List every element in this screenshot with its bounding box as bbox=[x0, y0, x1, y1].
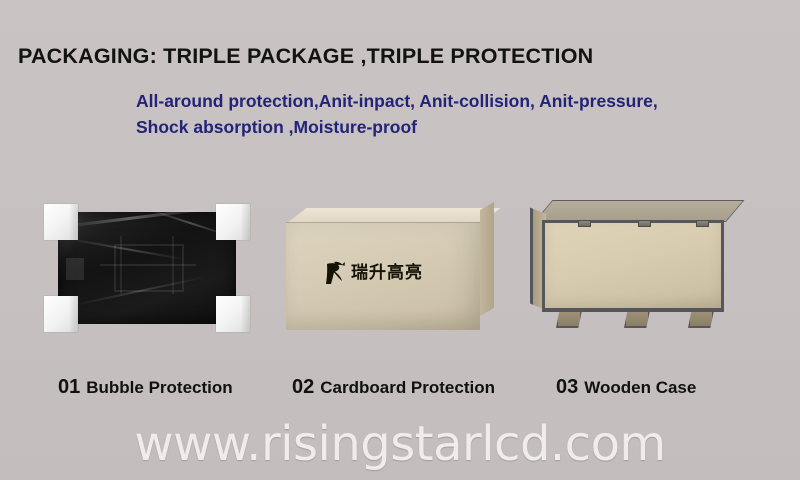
crate-metal-clip bbox=[638, 220, 651, 227]
cardboard-carton-image: 瑞升高亮 bbox=[286, 208, 496, 330]
crate-top-face bbox=[534, 200, 744, 222]
brand-logo: 瑞升高亮 bbox=[322, 260, 423, 286]
crate-metal-clip bbox=[696, 220, 709, 227]
bracket-vertical-bar-right bbox=[172, 236, 174, 294]
foam-corner-top-left bbox=[44, 204, 78, 240]
photo-wooden-case bbox=[528, 196, 734, 341]
carton-top-seam bbox=[286, 222, 480, 223]
rising-star-r-logo-icon bbox=[322, 260, 346, 286]
caption-number: 03 bbox=[556, 376, 578, 399]
wooden-crate-image bbox=[528, 200, 734, 338]
caption-bubble-protection: 01 Bubble Protection bbox=[58, 376, 233, 399]
caption-cardboard-protection: 02 Cardboard Protection bbox=[292, 376, 495, 399]
product-caption-row: 01 Bubble Protection 02 Cardboard Protec… bbox=[0, 376, 800, 402]
photo-cardboard-protection: 瑞升高亮 bbox=[282, 196, 504, 341]
brand-logo-text: 瑞升高亮 bbox=[351, 265, 423, 282]
caption-label: Cardboard Protection bbox=[320, 378, 495, 398]
photo-bubble-protection bbox=[36, 196, 258, 341]
product-photo-strip: 瑞升高亮 bbox=[0, 196, 800, 341]
caption-number: 01 bbox=[58, 376, 80, 399]
bracket-horizontal-bar bbox=[100, 264, 196, 266]
protection-features-list: All-around protection,Anit-inpact, Anit-… bbox=[136, 88, 736, 140]
protection-features-line-2: Shock absorption ,Moisture-proof bbox=[136, 114, 736, 140]
caption-wooden-case: 03 Wooden Case bbox=[556, 376, 696, 399]
crate-pallet-foot bbox=[624, 310, 650, 328]
caption-label: Bubble Protection bbox=[86, 378, 232, 398]
foam-corner-bottom-left bbox=[44, 296, 78, 332]
crate-pallet-foot bbox=[556, 310, 582, 328]
plastic-wrapped-tv-image bbox=[36, 202, 258, 334]
crate-metal-clip bbox=[578, 220, 591, 227]
foam-corner-top-right bbox=[216, 204, 250, 240]
foam-corner-bottom-right bbox=[216, 296, 250, 332]
website-watermark: www.risingstarlcd.com bbox=[0, 416, 800, 472]
tv-spec-label bbox=[66, 258, 84, 280]
crate-front-face bbox=[542, 220, 724, 312]
packaging-infographic: PACKAGING: TRIPLE PACKAGE ,TRIPLE PROTEC… bbox=[0, 0, 800, 480]
protection-features-line-1: All-around protection,Anit-inpact, Anit-… bbox=[136, 88, 736, 114]
carton-side-face bbox=[480, 202, 494, 316]
caption-label: Wooden Case bbox=[584, 378, 696, 398]
caption-number: 02 bbox=[292, 376, 314, 399]
crate-pallet-foot bbox=[688, 310, 714, 328]
page-title: PACKAGING: TRIPLE PACKAGE ,TRIPLE PROTEC… bbox=[18, 44, 593, 69]
bracket-vertical-bar-left bbox=[120, 236, 122, 294]
